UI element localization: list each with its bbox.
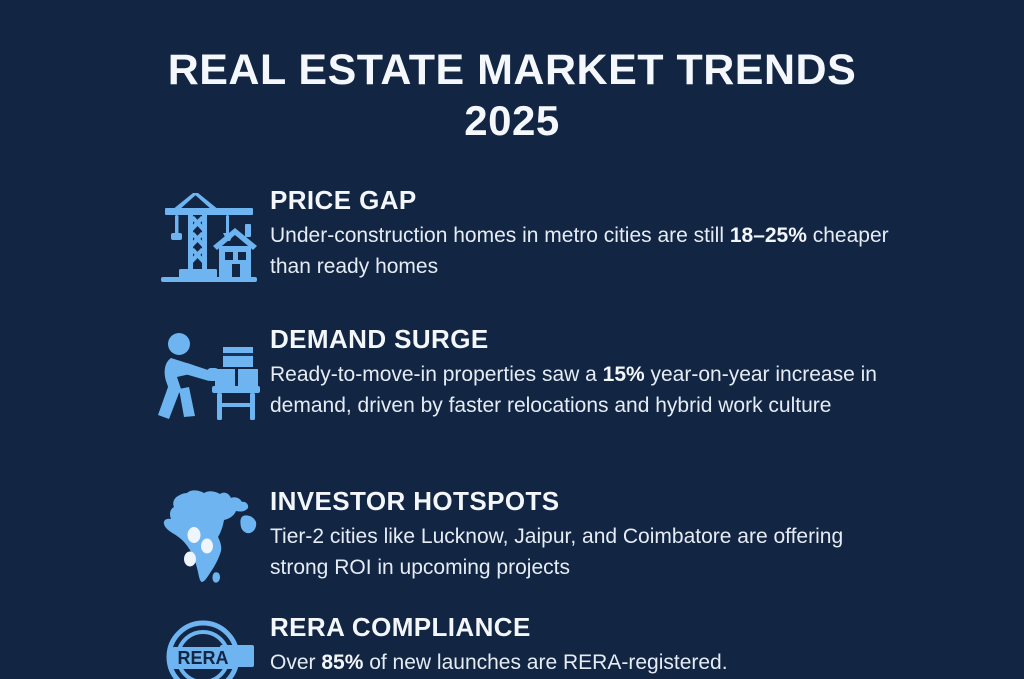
section-demand-surge: DEMAND SURGE Ready-to-move-in properties… (148, 321, 1024, 483)
section-investor-hotspots: INVESTOR HOTSPOTS Tier-2 cities like Luc… (148, 483, 1024, 609)
section-body: Ready-to-move-in properties saw a 15% ye… (270, 359, 900, 421)
section-text-cell: PRICE GAP Under-construction homes in me… (270, 182, 1024, 282)
title-line-2: 2025 (0, 96, 1024, 146)
poster-title: REAL ESTATE MARKET TRENDS 2025 (0, 44, 1024, 146)
section-body: Under-construction homes in metro cities… (270, 220, 900, 282)
section-body: Tier-2 cities like Lucknow, Jaipur, and … (270, 521, 900, 583)
section-list: PRICE GAP Under-construction homes in me… (148, 182, 1024, 679)
rera-seal-label: RERA (177, 648, 228, 668)
rera-seal-icon: RERA (157, 619, 261, 679)
section-icon-cell (148, 182, 270, 284)
construction-crane-icon (157, 188, 261, 284)
infographic-poster: REAL ESTATE MARKET TRENDS 2025 (0, 0, 1024, 679)
section-icon-cell (148, 483, 270, 585)
section-heading: PRICE GAP (270, 184, 1024, 216)
section-icon-cell (148, 321, 270, 421)
section-icon-cell: RERA (148, 609, 270, 679)
section-text-cell: DEMAND SURGE Ready-to-move-in properties… (270, 321, 1024, 421)
section-text-cell: RERA COMPLIANCE Over 85% of new launches… (270, 609, 1024, 678)
worker-with-boxes-icon (157, 331, 261, 421)
section-heading: RERA COMPLIANCE (270, 611, 1024, 643)
section-price-gap: PRICE GAP Under-construction homes in me… (148, 182, 1024, 321)
section-body: Over 85% of new launches are RERA-regist… (270, 647, 900, 678)
india-map-icon (157, 487, 261, 585)
section-text-cell: INVESTOR HOTSPOTS Tier-2 cities like Luc… (270, 483, 1024, 583)
section-heading: INVESTOR HOTSPOTS (270, 485, 1024, 517)
section-rera-compliance: RERA RERA COMPLIANCE Over 85% of new lau… (148, 609, 1024, 679)
title-line-1: REAL ESTATE MARKET TRENDS (0, 44, 1024, 96)
section-heading: DEMAND SURGE (270, 323, 1024, 355)
